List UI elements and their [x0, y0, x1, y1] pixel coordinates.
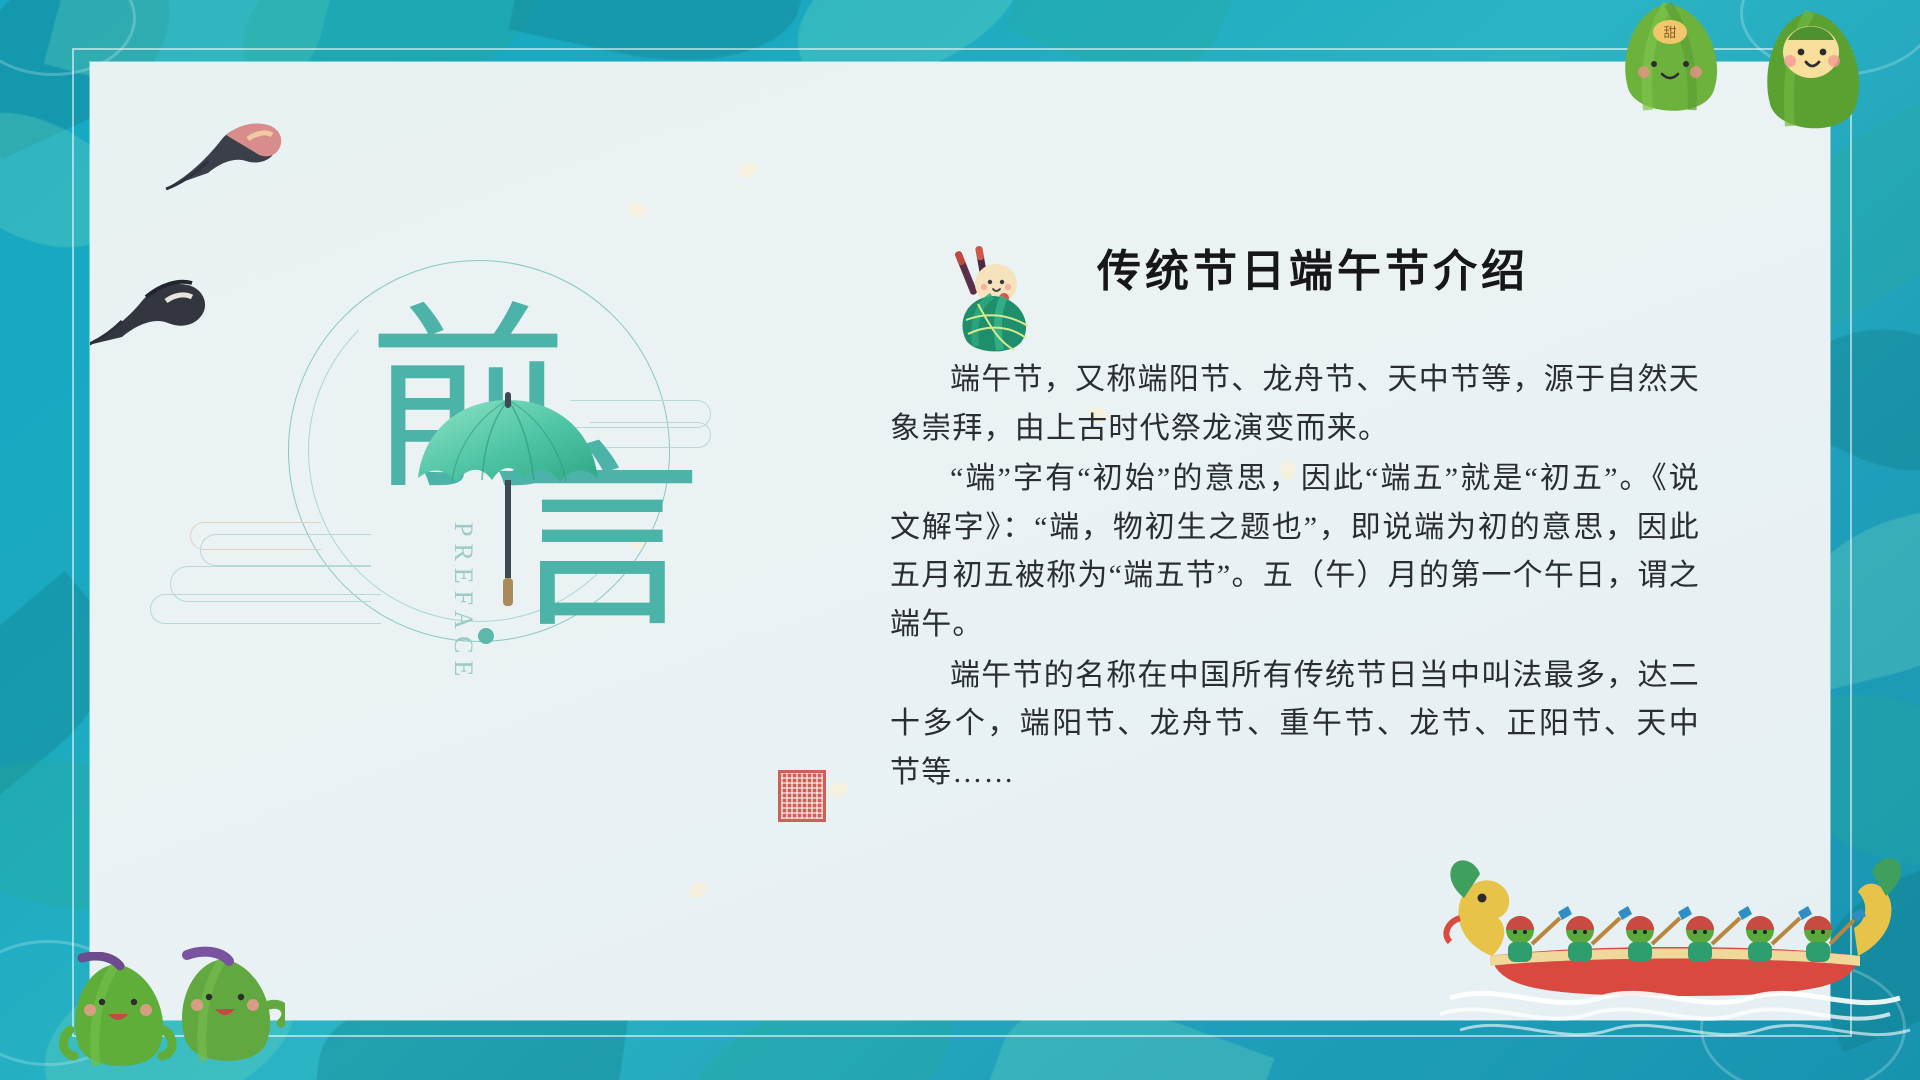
ring-dot-icon — [478, 628, 494, 644]
petal-decoration — [737, 159, 758, 180]
petal-decoration — [689, 881, 708, 900]
dragon-boat-icon — [1430, 848, 1920, 1048]
zongzi-character-icon — [165, 945, 285, 1075]
cloud-line-motif — [150, 594, 381, 624]
body-paragraph-2: “端”字有“初始”的意思，因此“端五”就是“初五”。《说文解字》：“端，物初生之… — [890, 455, 1700, 649]
cloud-line-motif — [200, 534, 371, 566]
preface-graphic: 前 言 PREFACE — [240, 222, 760, 782]
red-seal-stamp — [778, 770, 826, 822]
body-paragraph-3: 端午节的名称在中国所有传统节日当中叫法最多，达二十多个，端阳节、龙舟节、重午节、… — [890, 652, 1700, 798]
swallow-bird-icon — [160, 117, 290, 197]
swallow-bird-icon — [90, 267, 220, 362]
zongzi-character-icon — [1748, 8, 1873, 143]
zongzi-icon — [944, 246, 1040, 356]
title-row: 传统节日端午节介绍 — [944, 242, 1700, 356]
zongzi-character-icon — [58, 952, 178, 1077]
green-umbrella-icon — [408, 392, 608, 622]
text-content-column: 传统节日端午节介绍 端午节，又称端阳节、龙舟节、天中节等，源于自然天象崇拜，由上… — [890, 242, 1700, 799]
body-paragraph-1: 端午节，又称端阳节、龙舟节、天中节等，源于自然天象崇拜，由上古时代祭龙演变而来。 — [890, 356, 1700, 453]
svg-text:甜: 甜 — [1663, 25, 1676, 40]
zongzi-character-icon: 甜 — [1610, 0, 1730, 128]
petal-decoration — [628, 200, 649, 221]
slide-root: 前 言 PREFACE — [0, 0, 1920, 1080]
petal-decoration — [827, 779, 848, 800]
page-title: 传统节日端午节介绍 — [1058, 242, 1568, 301]
